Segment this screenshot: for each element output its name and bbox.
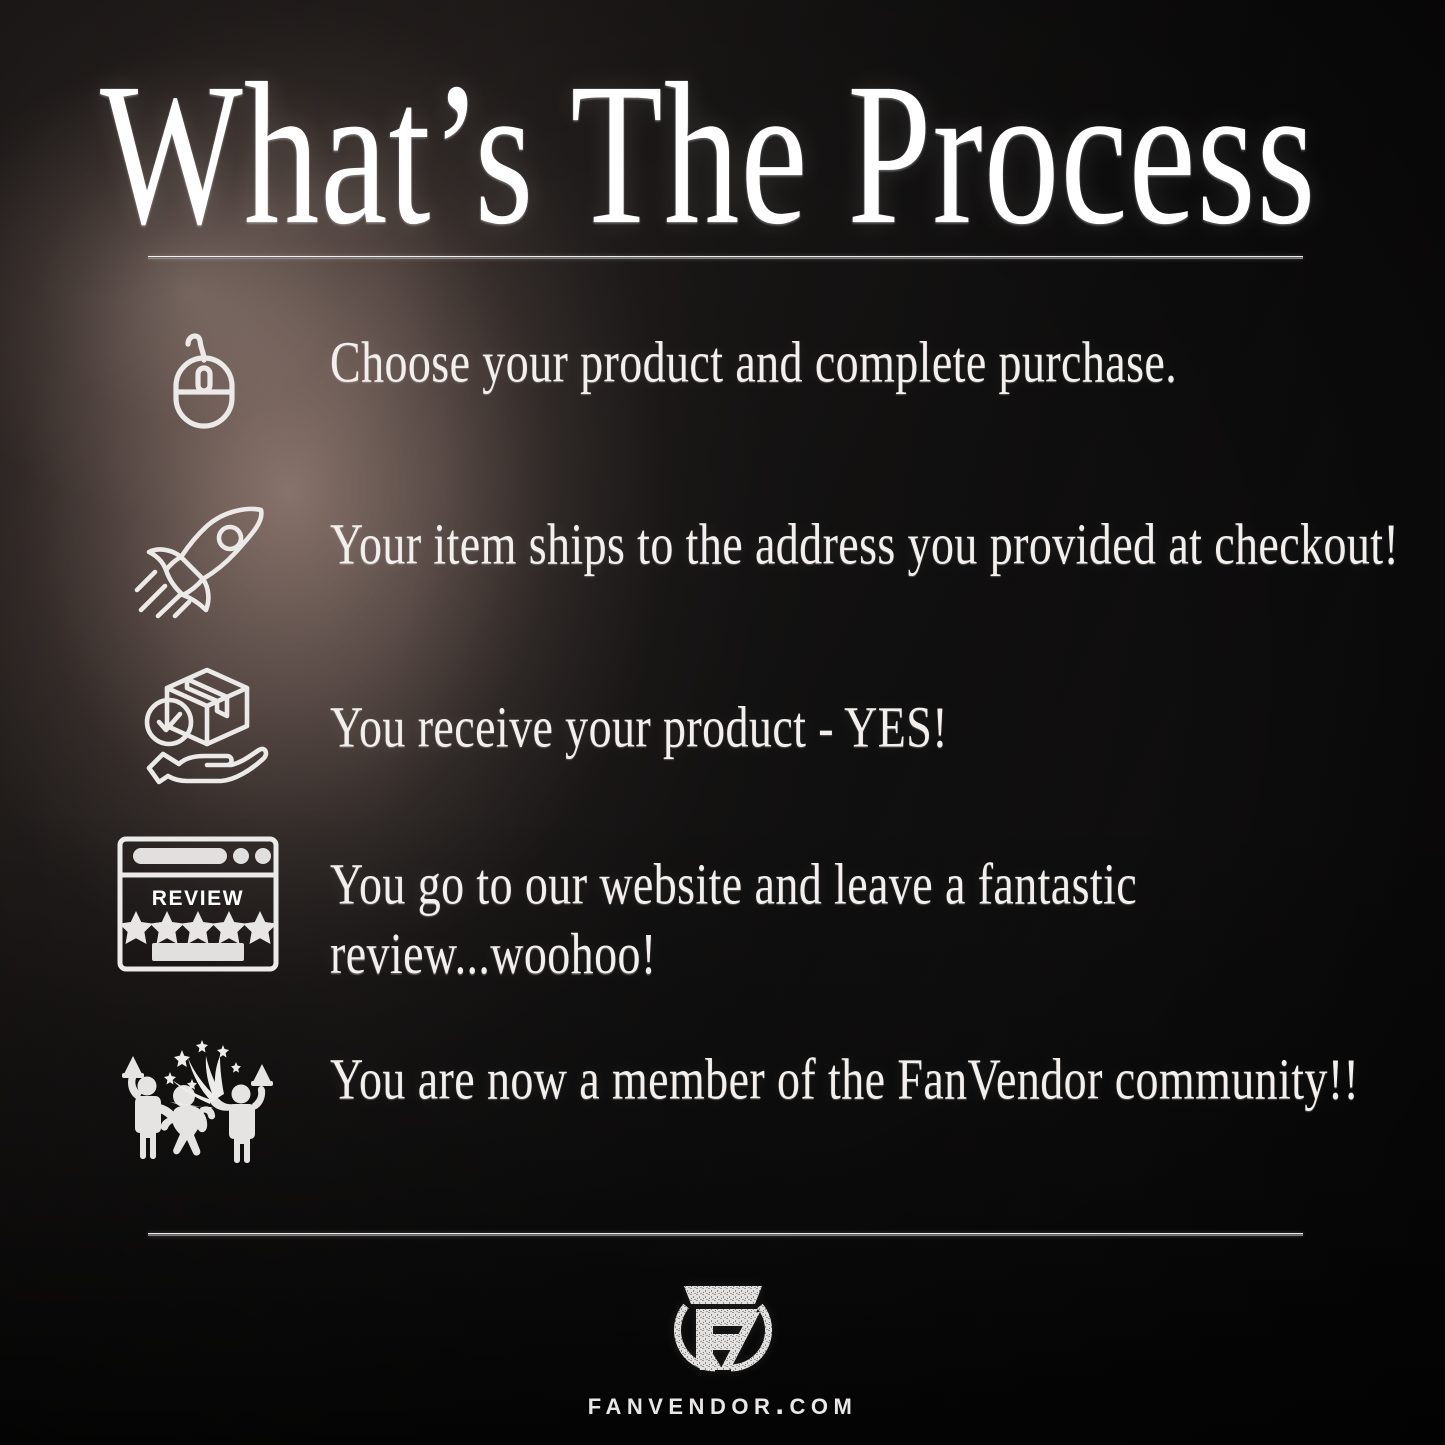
footer-branding: FanVendor.com [0,1282,1445,1422]
star-icon [243,911,277,944]
review-label: REVIEW [152,887,244,910]
process-step-text: You go to our website and leave a fantas… [330,850,1400,989]
poster-content: What’s The Process Choose your product a… [0,0,1445,1445]
divider-top [148,256,1303,259]
celebration-people-confetti-icon [116,1028,282,1168]
package-delivered-hand-icon [135,658,271,788]
process-step-text: Choose your product and complete purchas… [330,328,1400,398]
process-step-text: You are now a member of the FanVendor co… [330,1045,1400,1115]
person-left [122,1056,179,1159]
divider-bottom [148,1233,1303,1236]
rocket-icon [133,500,273,618]
star-icon [181,911,215,944]
process-step-text: Your item ships to the address you provi… [330,510,1400,580]
computer-mouse-icon [148,322,260,434]
process-step-text: You receive your product - YES! [330,693,1400,763]
star-icon [119,911,153,944]
page-title: What’s The Process [100,52,1384,256]
poster-canvas: What’s The Process Choose your product a… [0,0,1445,1445]
star-rating-group [119,911,277,944]
star-icon [150,911,184,944]
logo-wordmark: FanVendor.com [588,1386,858,1422]
browser-review-stars-icon: REVIEW [114,833,282,975]
star-icon [212,911,246,944]
fanvendor-fv-monogram-icon [660,1282,786,1374]
